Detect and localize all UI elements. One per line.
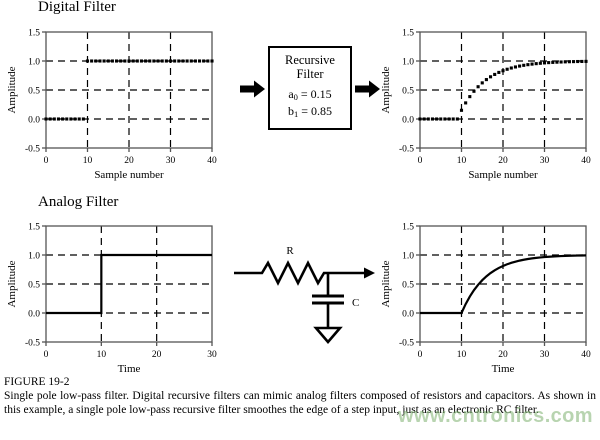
data-point — [514, 65, 517, 68]
x-axis-label: Sample number — [468, 169, 538, 181]
x-tick-label: 0 — [44, 156, 49, 166]
data-point — [98, 59, 101, 62]
coefficient-a0: a0 = 0.15 — [288, 87, 332, 104]
coefficient-a0-equals: = — [301, 87, 308, 101]
x-axis-label: Time — [492, 363, 515, 375]
coefficient-a0-value: 0.15 — [311, 87, 332, 101]
data-point — [115, 59, 118, 62]
data-point — [194, 59, 197, 62]
y-tick-label: -0.5 — [25, 338, 40, 348]
data-point — [61, 117, 64, 120]
x-tick-label: 20 — [498, 350, 508, 360]
figure-label: FIGURE 19-2 — [4, 376, 596, 389]
data-point — [460, 109, 463, 112]
data-point — [493, 73, 496, 76]
data-point — [456, 117, 459, 120]
data-point — [198, 59, 201, 62]
x-tick-label: 20 — [152, 350, 162, 360]
data-point — [152, 59, 155, 62]
x-tick-label: 30 — [166, 156, 176, 166]
grid-lines — [46, 32, 212, 148]
grid-lines — [420, 32, 586, 148]
y-tick-label: 0.5 — [402, 86, 414, 96]
chart-digital-output: -0.50.00.51.01.5010203040Sample numberAm… — [378, 24, 596, 190]
data-point — [186, 59, 189, 62]
data-point — [82, 117, 85, 120]
figure-page: Digital Filter -0.50.00.51.01.5010203040… — [0, 0, 600, 440]
data-point — [443, 117, 446, 120]
data-point — [57, 117, 60, 120]
data-point — [206, 59, 209, 62]
x-tick-label: 10 — [457, 156, 467, 166]
x-axis-label: Sample number — [94, 169, 164, 181]
data-point — [497, 71, 500, 74]
y-tick-label: 1.0 — [28, 251, 40, 261]
coefficient-b1-value: 0.85 — [311, 104, 332, 118]
data-point — [431, 117, 434, 120]
data-point — [423, 117, 426, 120]
x-tick-label: 40 — [581, 156, 591, 166]
data-point — [427, 117, 430, 120]
data-point — [580, 60, 583, 63]
y-tick-label: 0.0 — [28, 309, 40, 319]
y-tick-label: 1.5 — [28, 222, 40, 232]
data-point — [547, 61, 550, 64]
data-point — [435, 117, 438, 120]
data-point — [543, 61, 546, 64]
y-axis-label: Amplitude — [380, 260, 392, 307]
data-point — [103, 59, 106, 62]
axes: -0.50.00.51.01.5010203040 — [399, 222, 591, 360]
data-point — [107, 59, 110, 62]
figure-caption: FIGURE 19-2 Single pole low-pass filter.… — [4, 376, 596, 417]
x-tick-label: 30 — [540, 156, 550, 166]
data-point — [522, 64, 525, 67]
filter-box-title-line1: Recursive — [270, 54, 350, 68]
y-tick-label: 0.5 — [28, 280, 40, 290]
data-point — [418, 117, 421, 120]
data-point — [177, 59, 180, 62]
data-point — [572, 60, 575, 63]
y-tick-label: 1.5 — [402, 28, 414, 38]
x-tick-label: 0 — [418, 350, 423, 360]
data-point — [584, 60, 587, 63]
data-point — [69, 117, 72, 120]
filter-coefficients: a0 = 0.15 b1 = 0.85 — [288, 87, 332, 121]
data-point — [510, 66, 513, 69]
data-point — [132, 59, 135, 62]
data-point — [78, 117, 81, 120]
data-point — [119, 59, 122, 62]
y-tick-label: 0.5 — [28, 86, 40, 96]
data-point — [53, 117, 56, 120]
data-point — [136, 59, 139, 62]
data-point — [448, 117, 451, 120]
data-point — [485, 78, 488, 81]
arrow-right-icon-input — [240, 80, 266, 98]
y-tick-label: 1.5 — [28, 28, 40, 38]
y-tick-label: 1.0 — [402, 57, 414, 67]
grid-lines — [46, 226, 212, 342]
data-point — [169, 59, 172, 62]
y-tick-label: -0.5 — [25, 144, 40, 154]
x-tick-label: 0 — [44, 350, 49, 360]
data-point — [157, 59, 160, 62]
data-point — [576, 60, 579, 63]
data-point — [439, 117, 442, 120]
data-point — [539, 62, 542, 65]
y-tick-label: -0.5 — [399, 338, 414, 348]
data-point — [531, 63, 534, 66]
data-point — [140, 59, 143, 62]
coefficient-b1-equals: = — [301, 104, 308, 118]
x-tick-label: 30 — [207, 350, 217, 360]
section-title-digital: Digital Filter — [38, 0, 116, 16]
data-point — [173, 59, 176, 62]
coefficient-a0-subscript: 0 — [294, 92, 298, 102]
data-point — [452, 117, 455, 120]
x-tick-label: 40 — [207, 156, 217, 166]
x-tick-label: 10 — [457, 350, 467, 360]
data-point — [501, 69, 504, 72]
data-point — [123, 59, 126, 62]
data-point — [518, 65, 521, 68]
data-point — [564, 60, 567, 63]
data-point — [481, 81, 484, 84]
data-point — [526, 63, 529, 66]
data-point — [202, 59, 205, 62]
chart-analog-output: -0.50.00.51.01.5010203040TimeAmplitude — [378, 218, 596, 384]
data-point — [90, 59, 93, 62]
data-point — [94, 59, 97, 62]
capacitor-label-text: C — [352, 297, 359, 309]
y-tick-label: 0.0 — [28, 115, 40, 125]
data-point — [568, 60, 571, 63]
data-point — [165, 59, 168, 62]
chart-digital-input: -0.50.00.51.01.5010203040Sample numberAm… — [4, 24, 222, 190]
resistor-label-text: R — [286, 245, 294, 257]
figure-caption-text: Single pole low-pass filter. Digital rec… — [4, 390, 596, 417]
plot-analog-input: -0.50.00.51.01.50102030TimeAmplitude — [4, 218, 222, 384]
data-point — [86, 59, 89, 62]
y-tick-label: 0.5 — [402, 280, 414, 290]
x-axis-label: Time — [118, 363, 141, 375]
data-point — [161, 59, 164, 62]
x-tick-label: 0 — [418, 156, 423, 166]
recursive-filter-box: Recursive Filter a0 = 0.15 b1 = 0.85 — [268, 46, 352, 130]
data-point — [49, 117, 52, 120]
data-point — [477, 85, 480, 88]
y-axis-label: Amplitude — [6, 66, 18, 113]
x-tick-label: 10 — [83, 156, 93, 166]
chart-analog-input: -0.50.00.51.01.50102030TimeAmplitude — [4, 218, 222, 384]
rc-circuit-diagram: R C — [232, 236, 377, 351]
coefficient-b1: b1 = 0.85 — [288, 104, 332, 121]
y-axis-label: Amplitude — [6, 260, 18, 307]
plot-digital-output: -0.50.00.51.01.5010203040Sample numberAm… — [378, 24, 596, 190]
y-tick-label: 0.0 — [402, 115, 414, 125]
data-point — [148, 59, 151, 62]
data-point — [468, 95, 471, 98]
data-point — [181, 59, 184, 62]
data-point — [127, 59, 130, 62]
y-tick-label: -0.5 — [399, 144, 414, 154]
x-tick-label: 40 — [581, 350, 591, 360]
data-point — [464, 101, 467, 104]
plot-digital-input: -0.50.00.51.01.5010203040Sample numberAm… — [4, 24, 222, 190]
axes: -0.50.00.51.01.50102030 — [25, 222, 217, 360]
data-point — [555, 61, 558, 64]
axes: -0.50.00.51.01.5010203040 — [399, 28, 591, 166]
x-tick-label: 10 — [97, 350, 107, 360]
data-point — [472, 90, 475, 93]
data-point — [65, 117, 68, 120]
filter-box-title-line2: Filter — [270, 68, 350, 82]
coefficient-b1-subscript: 1 — [294, 109, 298, 119]
data-point — [551, 61, 554, 64]
x-tick-label: 30 — [540, 350, 550, 360]
y-tick-label: 1.5 — [402, 222, 414, 232]
data-point — [74, 117, 77, 120]
data-point — [489, 75, 492, 78]
data-point — [190, 59, 193, 62]
y-tick-label: 1.0 — [402, 251, 414, 261]
axes: -0.50.00.51.01.5010203040 — [25, 28, 217, 166]
x-tick-label: 20 — [498, 156, 508, 166]
data-point — [44, 117, 47, 120]
y-tick-label: 0.0 — [402, 309, 414, 319]
data-point — [535, 62, 538, 65]
section-title-analog: Analog Filter — [38, 194, 118, 211]
data-point — [111, 59, 114, 62]
plot-analog-output: -0.50.00.51.01.5010203040TimeAmplitude — [378, 218, 596, 384]
data-point — [144, 59, 147, 62]
data-point — [506, 68, 509, 71]
data-point — [560, 60, 563, 63]
grid-lines — [420, 226, 586, 342]
x-tick-label: 20 — [124, 156, 134, 166]
data-point — [210, 59, 213, 62]
y-tick-label: 1.0 — [28, 57, 40, 67]
y-axis-label: Amplitude — [380, 66, 392, 113]
